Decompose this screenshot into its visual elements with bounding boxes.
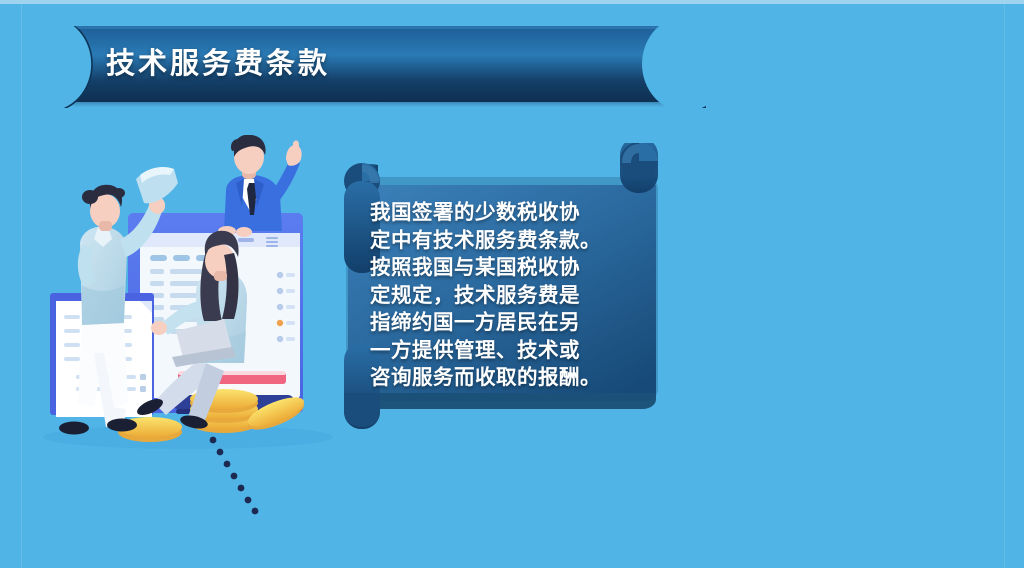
scroll-body-text: 我国签署的少数税收协 定中有技术服务费条款。 按照我国与某国税收协 定规定，技术… [370,199,638,392]
page-title: 技术服务费条款 [106,26,330,102]
dashboard-tag-row [150,255,213,261]
scroll-text-panel: 我国签署的少数税收协 定中有技术服务费条款。 按照我国与某国税收协 定规定，技术… [322,143,682,431]
video-letterbox-strip [0,0,1024,4]
right-frame-seam [1004,4,1005,568]
business-team-illustration [28,135,338,525]
presentation-slide: 技术服务费条款 [0,0,1024,568]
title-banner: 技术服务费条款 [26,26,706,108]
illustration-svg [28,135,338,525]
left-frame-seam [21,4,22,568]
scroll-curl-top-right [620,143,658,193]
scroll-bottom-edge [380,393,656,409]
